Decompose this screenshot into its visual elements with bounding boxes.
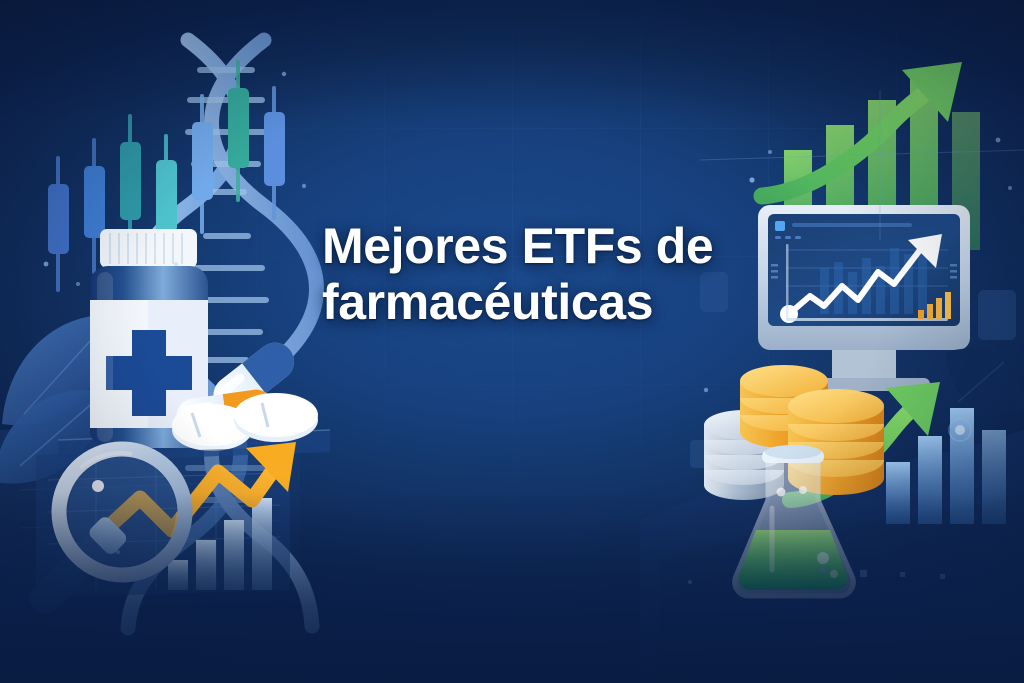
title-line-1: Mejores ETFs de <box>322 218 742 274</box>
page-title: Mejores ETFs de farmacéuticas <box>322 218 742 330</box>
banner-canvas: Mejores ETFs de farmacéuticas <box>0 0 1024 683</box>
title-line-2: farmacéuticas <box>322 274 742 330</box>
leaf-icon <box>946 348 1024 412</box>
right-illustration <box>0 0 1024 683</box>
desktop-monitor-icon <box>758 205 970 391</box>
